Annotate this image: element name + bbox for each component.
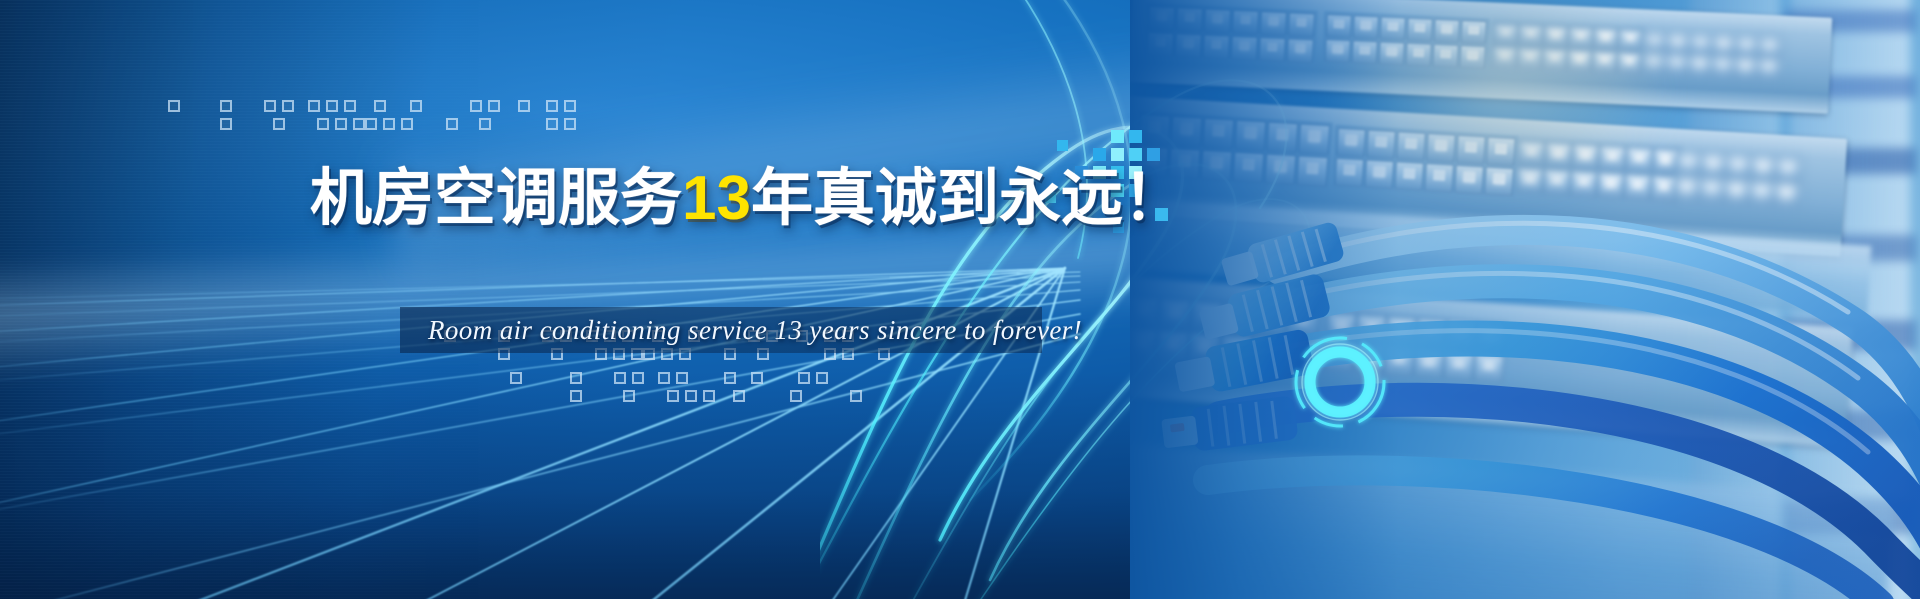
headline-part-one: 机房空调服务 [310, 164, 682, 233]
dot-pattern-top [160, 100, 580, 136]
headline-part-two: 年真诚到永远！ [751, 164, 1185, 233]
hero-banner: 机房空调服务13年真诚到永远！ Room air conditioning se… [0, 0, 1920, 599]
subtitle: Room air conditioning service 13 years s… [428, 313, 1082, 347]
headline-highlight-number: 13 [682, 164, 751, 233]
hud-target-ring-icon [1288, 330, 1392, 434]
server-rack-photo [1130, 0, 1920, 599]
page-title: 机房空调服务13年真诚到永远！ [310, 168, 1185, 230]
photo-blue-tint [1130, 0, 1920, 599]
